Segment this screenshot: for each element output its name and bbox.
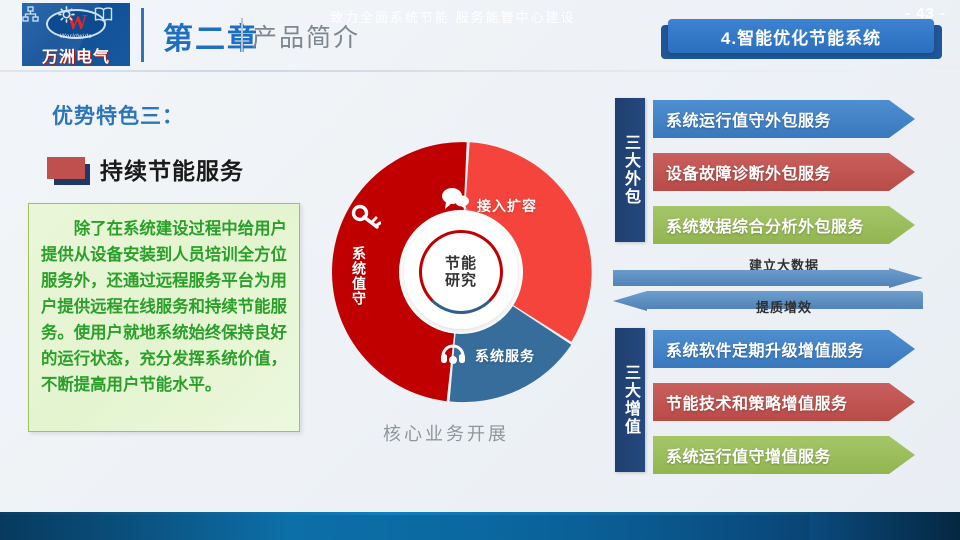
description-callout: 除了在系统建设过程中给用户提供从设备安装到人员培训全方位服务外，还通过远程服务平… <box>28 203 300 432</box>
valueadd-item-1[interactable]: 系统软件定期升级增值服务 <box>653 330 915 368</box>
book-icon[interactable] <box>94 6 113 28</box>
header-accent-rule <box>141 8 144 62</box>
section-banner: 4.智能优化节能系统 <box>668 19 934 53</box>
group-tab-valueadd: 三大增值 <box>615 328 645 472</box>
footer-slogan: 致力全面系统节能 服务能管中心建设 <box>330 7 576 26</box>
arrow-right-big <box>613 268 923 288</box>
footer-page-backdrop <box>810 512 960 540</box>
donut-label-access: 接入扩容 <box>477 196 537 216</box>
gear-icon[interactable] <box>58 6 75 28</box>
chapter-divider <box>241 18 243 52</box>
square-bullet-icon <box>47 157 90 183</box>
donut-center-label: 节能 研究 <box>445 255 477 289</box>
donut-center-line1: 节能 <box>445 255 477 272</box>
outsourcing-item-3[interactable]: 系统数据综合分析外包服务 <box>653 206 915 244</box>
sitemap-icon[interactable] <box>22 6 39 28</box>
core-business-donut-chart: 节能 研究 接入扩容 系统服务 <box>327 138 595 406</box>
outsourcing-item-1[interactable]: 系统运行值守外包服务 <box>653 100 915 138</box>
description-text: 除了在系统建设过程中给用户提供从设备安装到人员培训全方位服务外，还通过远程服务平… <box>41 216 287 398</box>
footer-page-number: - 43 - <box>905 5 946 22</box>
donut-label-service: 系统服务 <box>475 346 535 366</box>
chapter-title: 第二章 <box>163 14 259 58</box>
speech-bubble-icon <box>440 186 470 217</box>
feature-title: 持续节能服务 <box>100 152 244 186</box>
headset-icon <box>439 340 467 371</box>
valueadd-item-3[interactable]: 系统运行值守增值服务 <box>653 436 915 474</box>
slide-root: W Worldwide 万洲电气 第二章 产品简介 优势特色三： 持续节能服务 … <box>0 0 960 540</box>
logo-latin-text: Worldwide <box>22 34 130 40</box>
key-icon <box>351 204 381 235</box>
donut-center-line2: 研究 <box>445 272 477 289</box>
advantage-title: 优势特色三： <box>52 100 184 130</box>
valueadd-item-2[interactable]: 节能技术和策略增值服务 <box>653 383 915 421</box>
logo-company-name: 万洲电气 <box>22 43 130 66</box>
connector-label-bottom: 提质增效 <box>653 297 915 316</box>
group-tab-outsourcing: 三大外包 <box>615 98 645 242</box>
header-bottom-line <box>0 70 960 72</box>
outsourcing-item-2[interactable]: 设备故障诊断外包服务 <box>653 153 915 191</box>
donut-label-watch: 系统值守 <box>350 246 367 306</box>
donut-caption: 核心业务开展 <box>383 420 509 446</box>
